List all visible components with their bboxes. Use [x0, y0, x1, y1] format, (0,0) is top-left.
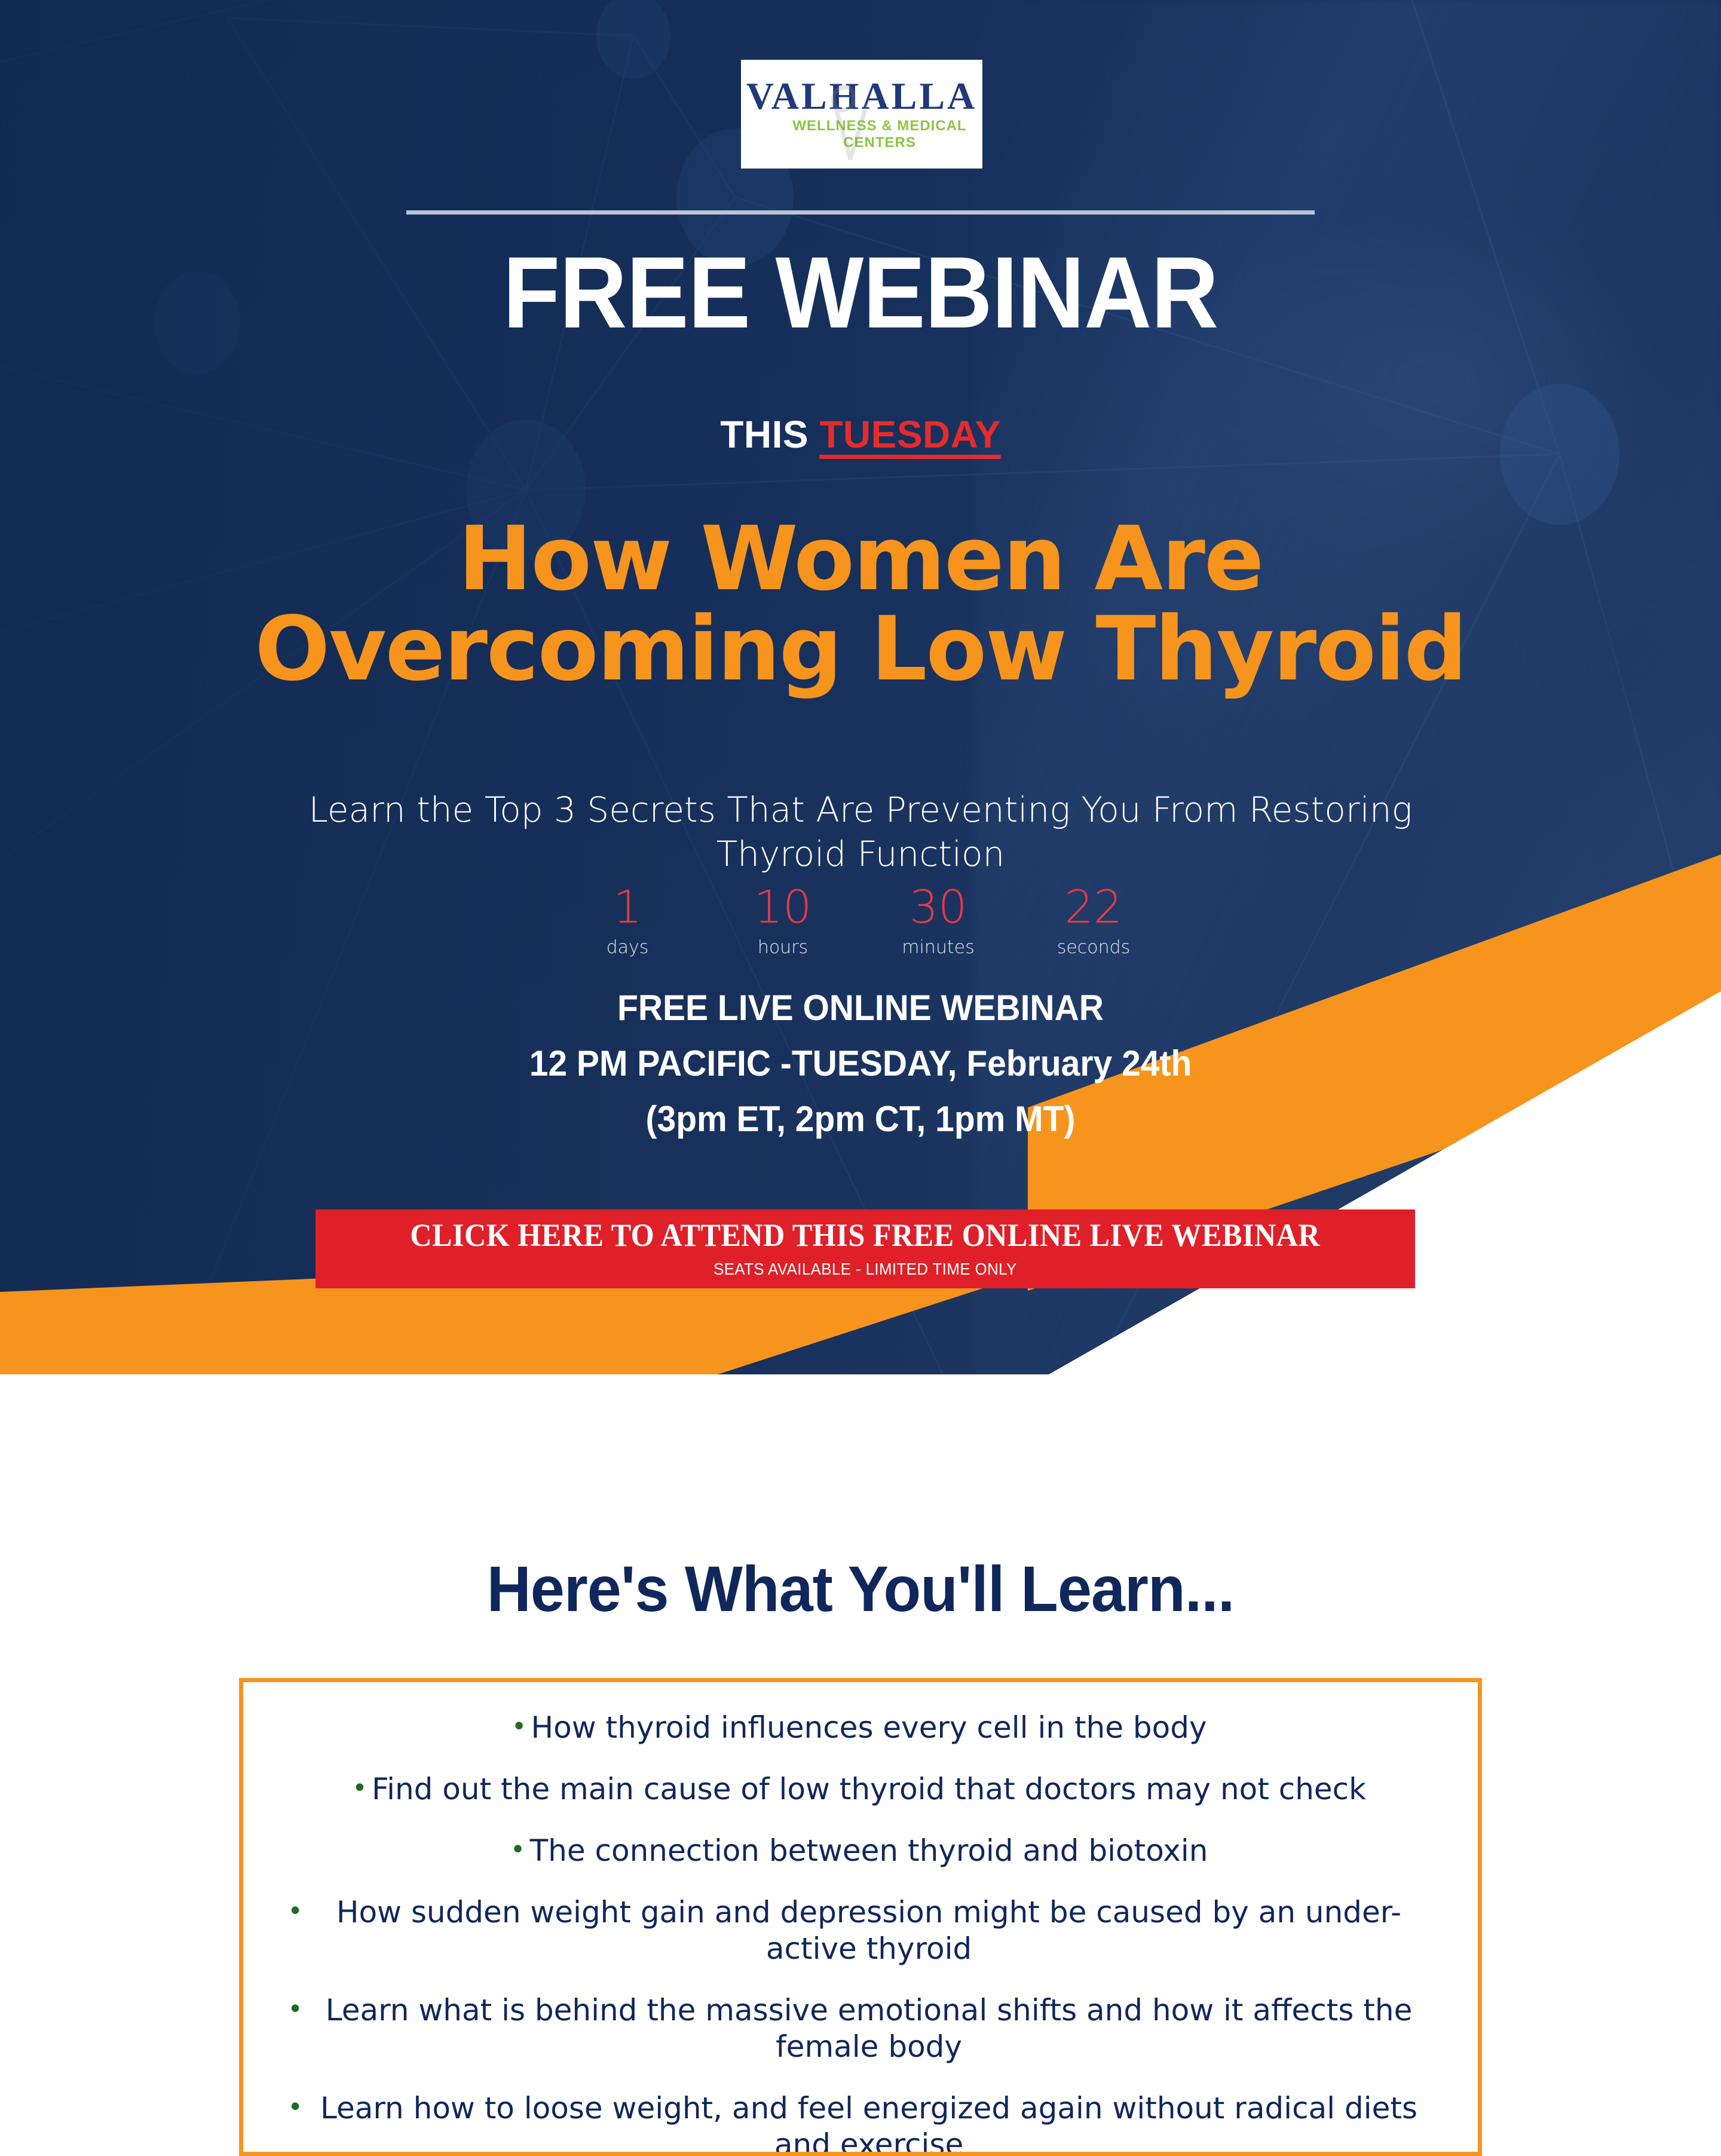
bullet-dot-icon: •	[355, 1771, 365, 1801]
countdown-unit-hours: 10 hours	[735, 884, 831, 958]
learn-section: Here's What You'll Learn... • How thyroi…	[0, 1554, 1721, 1625]
cta-sub-label: SEATS AVAILABLE - LIMITED TIME ONLY	[713, 1260, 1017, 1279]
list-item-label: The connection between thyroid and bioto…	[530, 1833, 1208, 1869]
headline-line-1: How Women Are	[0, 514, 1721, 604]
bullet-dot-icon: •	[513, 1833, 523, 1863]
free-webinar-title: FREE WEBINAR	[69, 242, 1652, 344]
bullet-dot-icon: •	[514, 1710, 523, 1739]
this-word: THIS	[720, 413, 819, 456]
list-item-label: How sudden weight gain and depression mi…	[307, 1894, 1431, 1967]
list-item: • Learn how to loose weight, and feel en…	[267, 2090, 1454, 2156]
details-line-2: 12 PM PACIFIC -TUESDAY, February 24th	[43, 1036, 1678, 1091]
hero-section: VALHALLA WELLNESS & MEDICAL CENTERS FREE…	[0, 0, 1721, 1374]
header-divider	[406, 210, 1315, 215]
learn-bullets-box: • How thyroid influences every cell in t…	[239, 1678, 1482, 2156]
list-item-label: How thyroid influences every cell in the…	[531, 1710, 1207, 1746]
list-item: • Find out the main cause of low thyroid…	[267, 1771, 1454, 1808]
tuesday-word: TUESDAY	[819, 413, 1000, 456]
list-item: • The connection between thyroid and bio…	[267, 1833, 1454, 1869]
countdown-seconds-value: 22	[1046, 884, 1141, 930]
list-item: • Learn what is behind the massive emoti…	[267, 1992, 1454, 2065]
countdown-minutes-label: minutes	[890, 937, 986, 958]
details-line-1: FREE LIVE ONLINE WEBINAR	[43, 980, 1678, 1036]
bullet-dot-icon: •	[290, 1992, 300, 2022]
list-item-label: Learn what is behind the massive emotion…	[307, 1992, 1431, 2065]
countdown-unit-seconds: 22 seconds	[1046, 884, 1141, 958]
attend-webinar-button[interactable]: CLICK HERE TO ATTEND THIS FREE ONLINE LI…	[316, 1209, 1415, 1288]
countdown-timer: 1 days 10 hours 30 minutes 22 seconds	[0, 884, 1721, 958]
list-item-label: Find out the main cause of low thyroid t…	[372, 1771, 1366, 1808]
list-item: • How thyroid influences every cell in t…	[267, 1710, 1454, 1746]
caduceus-icon	[811, 71, 889, 160]
countdown-minutes-value: 30	[890, 884, 986, 930]
list-item-label: Learn how to loose weight, and feel ener…	[307, 2090, 1431, 2156]
countdown-days-label: days	[580, 937, 675, 958]
cta-main-label: CLICK HERE TO ATTEND THIS FREE ONLINE LI…	[411, 1219, 1321, 1251]
bullet-dot-icon: •	[290, 1894, 300, 1924]
company-logo: VALHALLA WELLNESS & MEDICAL CENTERS	[741, 60, 982, 169]
page-headline: How Women Are Overcoming Low Thyroid	[0, 514, 1721, 694]
this-tuesday-label: THIS TUESDAY	[0, 412, 1721, 457]
countdown-hours-value: 10	[735, 884, 831, 930]
countdown-unit-days: 1 days	[580, 884, 675, 958]
learn-section-title: Here's What You'll Learn...	[43, 1554, 1678, 1625]
bullet-dot-icon: •	[290, 2090, 300, 2120]
countdown-seconds-label: seconds	[1046, 937, 1141, 958]
webinar-details: FREE LIVE ONLINE WEBINAR 12 PM PACIFIC -…	[43, 980, 1678, 1147]
list-item: • How sudden weight gain and depression …	[267, 1894, 1454, 1967]
headline-line-2: Overcoming Low Thyroid	[0, 604, 1721, 694]
page-subheadline: Learn the Top 3 Secrets That Are Prevent…	[251, 788, 1470, 876]
countdown-days-value: 1	[580, 884, 675, 930]
details-line-3: (3pm ET, 2pm CT, 1pm MT)	[43, 1091, 1678, 1147]
countdown-hours-label: hours	[735, 937, 831, 958]
countdown-unit-minutes: 30 minutes	[890, 884, 986, 958]
